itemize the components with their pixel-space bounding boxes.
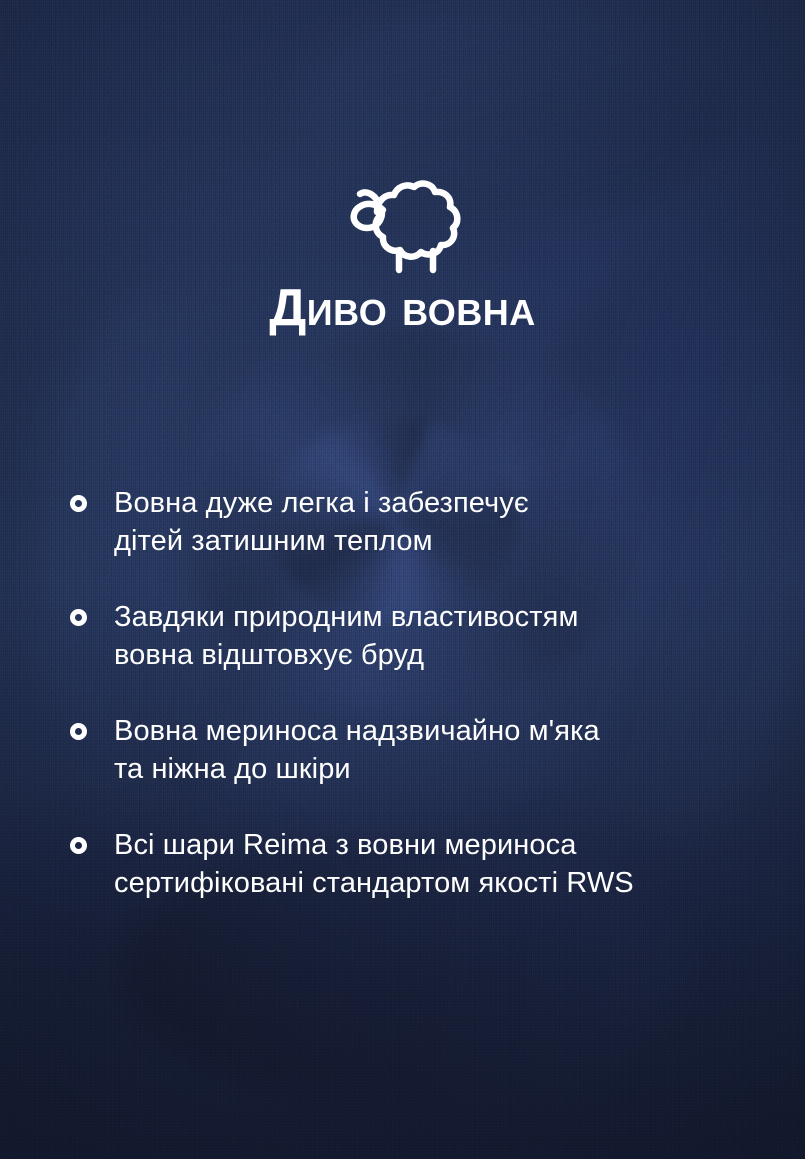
ring-bullet-icon [70, 609, 87, 626]
feature-list: Вовна дуже легка і забезпечує дітей зати… [70, 484, 765, 902]
list-item: Всі шари Reima з вовни мериноса сертифік… [70, 826, 765, 902]
ring-bullet-icon [70, 723, 87, 740]
poster-content: Диво вовна Вовна дуже легка і забезпечує… [0, 0, 805, 1159]
feature-text: Вовна дуже легка і забезпечує дітей зати… [114, 484, 529, 560]
sheep-icon [337, 176, 469, 274]
list-item: Завдяки природним властивостям вовна від… [70, 598, 765, 674]
wool-feature-poster: Диво вовна Вовна дуже легка і забезпечує… [0, 0, 805, 1159]
feature-text: Вовна мериноса надзвичайно м'яка та ніжн… [114, 712, 600, 788]
feature-text: Завдяки природним властивостям вовна від… [114, 598, 578, 674]
list-item: Вовна мериноса надзвичайно м'яка та ніжн… [70, 712, 765, 788]
ring-bullet-icon [70, 837, 87, 854]
ring-bullet-icon [70, 495, 87, 512]
feature-text: Всі шари Reima з вовни мериноса сертифік… [114, 826, 634, 902]
page-title: Диво вовна [0, 282, 805, 334]
list-item: Вовна дуже легка і забезпечує дітей зати… [70, 484, 765, 560]
